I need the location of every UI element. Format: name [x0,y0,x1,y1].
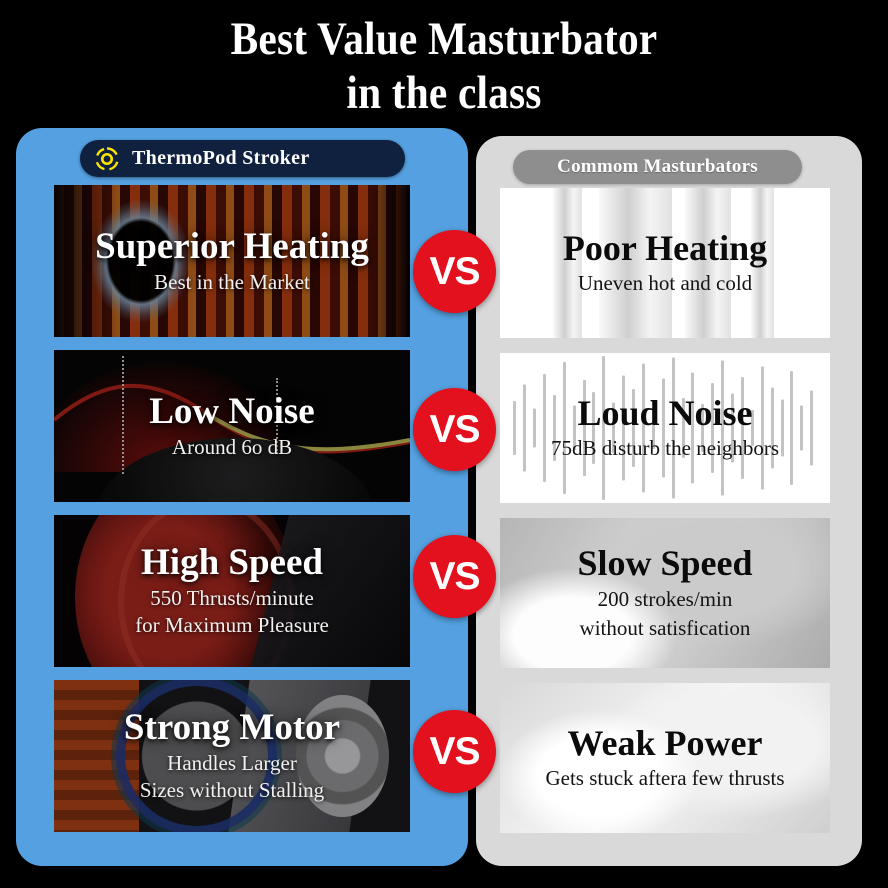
drawback-heading: Loud Noise [551,395,779,433]
feature-subtext-2: Sizes without Stalling [124,778,340,803]
drawback-subtext-1: Gets stuck aftera few thrusts [545,766,784,791]
feature-subtext-1: Handles Larger [124,751,340,776]
vs-badge-row-4: VS [413,710,496,793]
vs-label: VS [429,557,479,596]
title-line-2: in the class [53,70,834,117]
feature-heading: Superior Heating [95,228,369,267]
feature-subtext-1: Around 6o dB [149,435,314,460]
drawback-card-weak-power: Weak Power Gets stuck aftera few thrusts [500,683,830,833]
title-line-1: Best Value Masturbator [53,16,834,63]
feature-heading: High Speed [135,544,329,583]
feature-card-low-noise: Low Noise Around 6o dB [54,350,410,502]
competitor-badge-label: Commom Masturbators [557,156,758,178]
infographic-canvas: Best Value Masturbator in the class Ther… [0,0,888,888]
feature-heading: Strong Motor [124,709,340,748]
vs-label: VS [429,410,479,449]
vs-label: VS [429,732,479,771]
drawback-subtext-2: without satisfication [577,616,752,641]
competitor-badge: Commom Masturbators [513,150,802,184]
feature-subtext-2: for Maximum Pleasure [135,613,329,638]
drawback-subtext-1: Uneven hot and cold [563,271,767,296]
vs-badge-row-1: VS [413,230,496,313]
drawback-heading: Poor Heating [563,230,767,268]
feature-card-strong-motor: Strong Motor Handles Larger Sizes withou… [54,680,410,832]
vs-badge-row-3: VS [413,535,496,618]
page-title: Best Value Masturbator in the class [0,16,888,117]
brand-badge: ThermoPod Stroker [80,140,405,177]
feature-subtext-1: 550 Thrusts/minute [135,586,329,611]
feature-heading: Low Noise [149,393,314,432]
concentric-target-icon [94,146,120,172]
feature-card-high-speed: High Speed 550 Thrusts/minute for Maximu… [54,515,410,667]
drawback-subtext-1: 200 strokes/min [577,587,752,612]
drawback-card-poor-heating: Poor Heating Uneven hot and cold [500,188,830,338]
feature-subtext-1: Best in the Market [95,270,369,295]
feature-card-superior-heating: Superior Heating Best in the Market [54,185,410,337]
drawback-heading: Weak Power [545,725,784,763]
vs-label: VS [429,252,479,291]
drawback-card-slow-speed: Slow Speed 200 strokes/min without satis… [500,518,830,668]
drawback-subtext-1: 75dB disturb the neighbors [551,436,779,461]
drawback-card-loud-noise: Loud Noise 75dB disturb the neighbors [500,353,830,503]
brand-badge-label: ThermoPod Stroker [132,147,310,170]
left-feature-list: Superior Heating Best in the Market Low … [54,185,410,845]
drawback-heading: Slow Speed [577,545,752,583]
right-drawback-list: Poor Heating Uneven hot and cold Loud No… [500,188,830,848]
vs-badge-row-2: VS [413,388,496,471]
